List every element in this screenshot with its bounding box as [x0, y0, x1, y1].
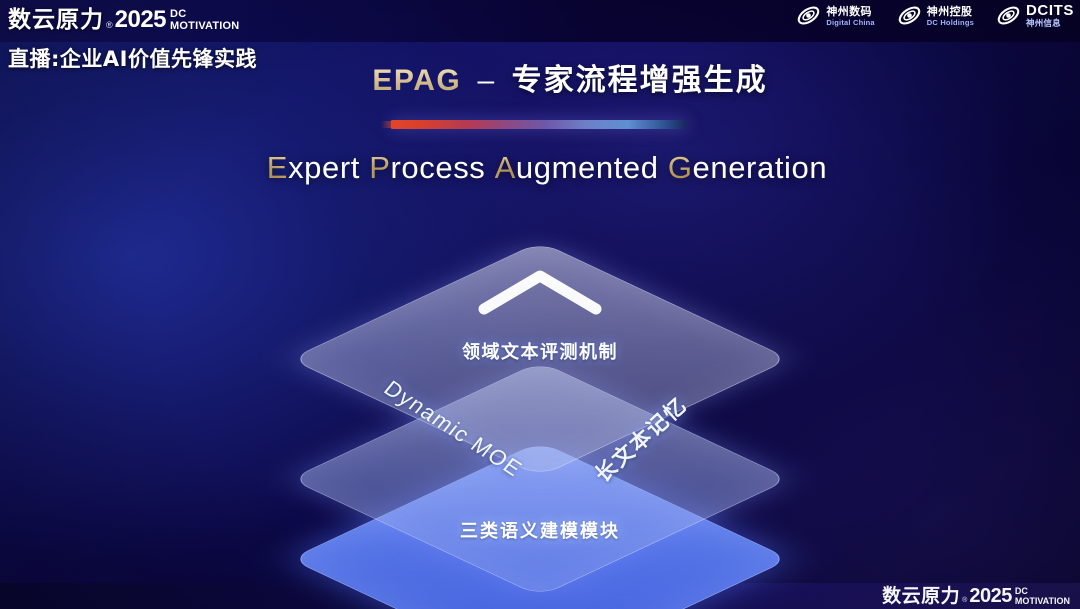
brand-header: 数云原力 ® 2025 DC MOTIVATION 直播:企业AI价值先锋实践 — [8, 4, 308, 73]
partner-logo-dcits: DCITS 神州信息 — [996, 3, 1074, 29]
watermark-dc-motivation: DC MOTIVATION — [1015, 587, 1070, 606]
subtitle-space-1 — [360, 150, 369, 185]
partner-name-en: Digital China — [826, 19, 874, 27]
partner-label: 神州控股 DC Holdings — [927, 6, 974, 27]
title-dash: – — [478, 64, 496, 97]
partner-logo-group: 神州数码 Digital China 神州控股 DC Holdings — [796, 3, 1074, 29]
footer-watermark: 数云原力 ® 2025 DC MOTIVATION — [882, 586, 1070, 606]
partner-name-cn: 神州数码 — [826, 6, 874, 17]
subtitle-rest-process: rocess — [391, 150, 486, 185]
swirl-logo-icon — [796, 3, 821, 28]
partner-name-en: DC Holdings — [927, 19, 974, 27]
brand-logo-row: 数云原力 ® 2025 DC MOTIVATION — [8, 4, 308, 32]
watermark-name-cn: 数云原力 — [882, 586, 960, 606]
swirl-logo-icon — [897, 3, 922, 28]
gradient-divider — [391, 120, 687, 129]
brand-dc-motivation: DC MOTIVATION — [170, 9, 239, 32]
subtitle-initial-e: E — [267, 150, 288, 185]
title-chinese: 专家流程增强生成 — [512, 63, 768, 98]
watermark-registered-mark-icon: ® — [962, 595, 967, 606]
subtitle-rest-augmented: ugmented — [516, 150, 659, 185]
partner-logo-digital-china: 神州数码 Digital China — [796, 3, 874, 28]
layer-stack-diagram: 领域文本评测机制 Dynamic MOE 长文本记忆 三类语义建模模块 — [0, 232, 1080, 582]
brand-year: 2025 — [115, 8, 166, 32]
subtitle: Expert Process Augmented Generation — [0, 150, 1080, 186]
brand-dc-line1: DC — [170, 9, 239, 20]
subtitle-initial-g: G — [668, 150, 693, 185]
subtitle-rest-generation: eneration — [693, 150, 828, 185]
layer-bottom-label: 三类语义建模模块 — [460, 517, 620, 543]
title-acronym: EPAG — [372, 64, 461, 97]
subtitle-space-3 — [659, 150, 668, 185]
partner-logo-dc-holdings: 神州控股 DC Holdings — [897, 3, 974, 28]
partner-label: 神州数码 Digital China — [826, 6, 874, 27]
partner-label: DCITS 神州信息 — [1026, 3, 1074, 29]
watermark-dc-line1: DC — [1015, 587, 1070, 596]
subtitle-initial-a: A — [495, 150, 516, 185]
slide-canvas: 数云原力 ® 2025 DC MOTIVATION 直播:企业AI价值先锋实践 … — [0, 0, 1080, 609]
brand-dc-line2: MOTIVATION — [170, 21, 239, 32]
brand-name-cn: 数云原力 — [8, 8, 104, 32]
subtitle-initial-p: P — [369, 150, 390, 185]
swirl-logo-icon — [996, 3, 1021, 28]
subtitle-space-2 — [485, 150, 494, 185]
title-inner: EPAG – 专家流程增强生成 — [372, 55, 767, 99]
partner-name-cn: 神州控股 — [927, 6, 974, 17]
registered-mark-icon: ® — [106, 18, 113, 32]
layer-top-label: 领域文本评测机制 — [462, 338, 618, 364]
subtitle-rest-expert: xpert — [288, 150, 360, 185]
chevron-up-icon — [474, 266, 606, 323]
subtitle-inner: Expert Process Augmented Generation — [267, 150, 827, 186]
partner-name-en: 神州信息 — [1026, 20, 1074, 29]
live-stream-label: 直播:企业AI价值先锋实践 — [8, 43, 308, 73]
watermark-year: 2025 — [969, 586, 1012, 606]
watermark-dc-line2: MOTIVATION — [1015, 597, 1070, 606]
partner-name-cn: DCITS — [1026, 3, 1074, 18]
